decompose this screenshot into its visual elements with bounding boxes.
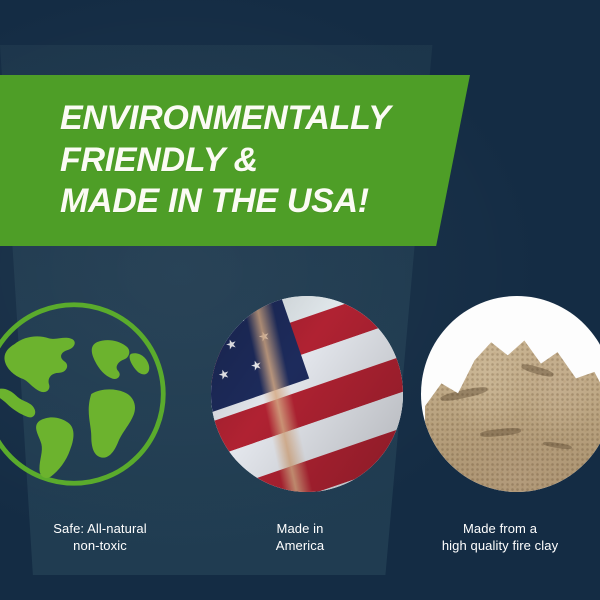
feature-caption: Made from a high quality fire clay: [442, 520, 558, 554]
headline-text: ENVIRONMENTALLY FRIENDLY & MADE IN THE U…: [0, 98, 390, 223]
promo-graphic: ENVIRONMENTALLY FRIENDLY & MADE IN THE U…: [0, 0, 600, 600]
feature-caption: Made in America: [276, 520, 324, 554]
features-row: Safe: All-natural non-toxic ★★ ★★ ★★: [0, 296, 600, 554]
feature-fire-clay: Made from a high quality fire clay: [400, 296, 600, 554]
feature-caption: Safe: All-natural non-toxic: [0, 520, 200, 554]
headline-banner: ENVIRONMENTALLY FRIENDLY & MADE IN THE U…: [0, 75, 470, 246]
feature-made-in-america: ★★ ★★ ★★ ★★ ★★ ★★ ★★ ★★ ★★ ★★: [200, 296, 400, 554]
feature-eco-friendly: Safe: All-natural non-toxic: [0, 296, 200, 554]
flag-media: ★★ ★★ ★★ ★★ ★★ ★★ ★★ ★★ ★★ ★★: [211, 296, 403, 492]
globe-media: [0, 296, 170, 492]
fire-clay-powder-photo: [421, 296, 600, 492]
globe-icon: [0, 296, 170, 492]
clay-media: [421, 296, 600, 492]
american-flag-photo: ★★ ★★ ★★ ★★ ★★ ★★ ★★ ★★ ★★ ★★: [211, 296, 403, 492]
